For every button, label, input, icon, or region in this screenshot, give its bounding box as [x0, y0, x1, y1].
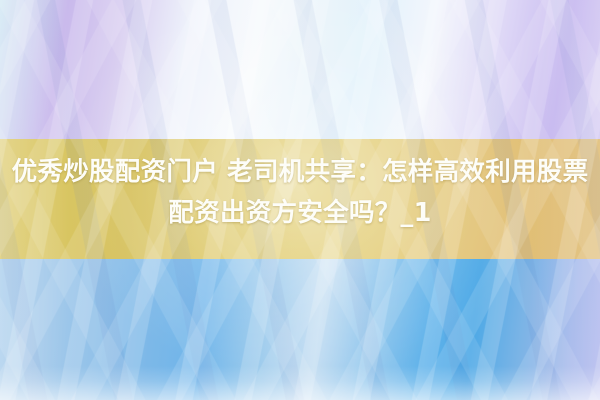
bottom-haze	[0, 366, 600, 400]
banner-headline: 优秀炒股配资门户 老司机共享：怎样高效利用股票配资出资方安全吗？_1	[0, 152, 600, 234]
background-band-top	[0, 0, 600, 140]
promo-banner: 优秀炒股配资门户 老司机共享：怎样高效利用股票配资出资方安全吗？_1	[0, 0, 600, 400]
